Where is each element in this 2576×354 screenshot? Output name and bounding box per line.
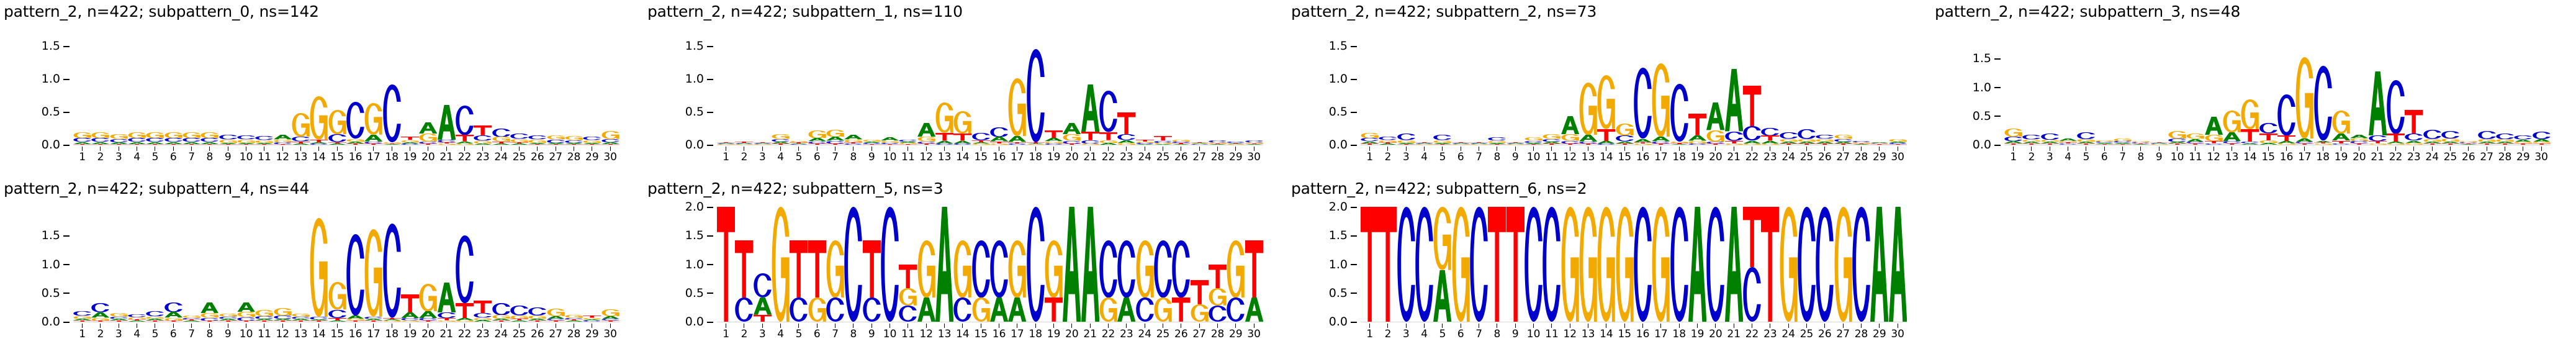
logo-letter-T — [1743, 207, 1761, 267]
logo-letter-T — [2295, 143, 2313, 145]
x-axis-tick: 1 — [73, 147, 91, 175]
y-axis-tick: 0.0 — [685, 138, 713, 152]
axis-baseline — [717, 322, 1263, 322]
logo-stack — [383, 30, 401, 145]
logo-stack — [881, 207, 899, 322]
logo-letter-G — [808, 297, 826, 322]
x-axis-tick: 10 — [2168, 147, 2186, 175]
x-axis-tick-label: 6 — [2101, 152, 2108, 163]
x-axis-tick-mark — [962, 324, 963, 328]
x-axis-tick-mark — [1254, 324, 1254, 328]
logo-panel-5: pattern_2, n=422; subpattern_5, ns=30.00… — [644, 177, 1287, 354]
panel-title: pattern_2, n=422; subpattern_5, ns=3 — [647, 179, 943, 197]
x-axis-tick-mark — [318, 147, 319, 151]
logo-letter-C — [164, 302, 182, 312]
x-axis-tick-label: 12 — [1563, 152, 1577, 163]
x-axis-tick: 29 — [1227, 324, 1245, 352]
logo-letter-G — [1117, 143, 1135, 145]
x-axis-tick: 14 — [1597, 324, 1615, 352]
y-axis-tick: 0.0 — [1329, 138, 1357, 152]
x-axis-tick: 17 — [1008, 324, 1026, 352]
logo-letter-T — [292, 320, 310, 322]
logo-letter-T — [364, 320, 382, 322]
x-axis-tick-mark — [2432, 147, 2433, 151]
logo-letter-G — [1470, 144, 1488, 145]
x-axis-tick-label: 1 — [723, 329, 729, 340]
logo-letter-A — [328, 143, 346, 145]
x-axis-tick-mark — [853, 147, 853, 151]
logo-stack — [255, 207, 273, 322]
logo-letter-C — [1706, 207, 1724, 322]
x-axis-tick-label: 2 — [97, 329, 104, 340]
y-axis-tick-mark — [63, 322, 70, 323]
logo-stack — [255, 30, 273, 145]
logo-letter-C — [1136, 297, 1154, 322]
logo-letter-A — [2205, 117, 2223, 135]
x-axis-tick-mark — [82, 324, 83, 328]
logo-letter-G — [990, 143, 1008, 145]
x-axis-tick-label: 25 — [1156, 152, 1170, 163]
logo-letter-T — [2223, 143, 2241, 145]
x-axis-tick: 21 — [1725, 147, 1743, 175]
logo-letter-C — [2205, 143, 2223, 145]
x-axis-tick: 5 — [1433, 147, 1451, 175]
x-axis-tick: 4 — [1415, 324, 1433, 352]
x-axis-tick-label: 24 — [1138, 152, 1151, 163]
logo-letter-C — [2059, 143, 2077, 145]
logo-letter-G — [1063, 134, 1081, 141]
x-axis-tick-label: 3 — [2047, 152, 2053, 163]
x-axis-tick-mark — [726, 147, 726, 151]
logo-stack — [1870, 30, 1888, 145]
x-axis-tick: 10 — [1524, 147, 1542, 175]
x-axis-tick-label: 4 — [133, 152, 140, 163]
logo-stack — [2387, 30, 2405, 145]
x-axis-tick-label: 13 — [294, 152, 308, 163]
logo-panel-2: pattern_2, n=422; subpattern_2, ns=730.0… — [1287, 0, 1931, 177]
x-axis-tick: 1 — [717, 324, 735, 352]
logo-panel-6: pattern_2, n=422; subpattern_6, ns=20.00… — [1287, 177, 1931, 354]
logo-letter-T — [2478, 143, 2496, 145]
logo-letter-C — [1099, 240, 1117, 298]
logo-letter-G — [438, 143, 456, 145]
logo-stack — [2132, 30, 2150, 145]
logo-letter-C — [1397, 134, 1415, 140]
x-axis-tick-mark — [1163, 147, 1163, 151]
x-axis-tick-mark — [1660, 147, 1661, 151]
x-axis-tick-mark — [2013, 147, 2014, 151]
logo-letter-T — [2022, 143, 2040, 145]
logo-stack — [826, 207, 844, 322]
x-axis-tick: 10 — [237, 147, 255, 175]
x-axis-tick-label: 22 — [1745, 329, 1759, 340]
logo-letter-G — [1542, 134, 1560, 138]
x-axis-tick: 8 — [1488, 324, 1506, 352]
x-axis-tick-mark — [780, 324, 781, 328]
logo-stack — [547, 30, 565, 145]
logo-letter-T — [881, 144, 899, 145]
x-axis-tick-mark — [1588, 147, 1588, 151]
logo-letter-G — [401, 320, 419, 322]
x-axis-tick-label: 4 — [133, 329, 140, 340]
x-axis-tick-label: 8 — [850, 152, 857, 163]
logo-stack — [328, 207, 346, 322]
x-axis-tick-mark — [1442, 147, 1443, 151]
logo-letter-T — [128, 144, 146, 145]
x-axis-tick-label: 16 — [1636, 329, 1650, 340]
logo-letter-T — [2114, 144, 2132, 145]
logo-letter-A — [990, 297, 1008, 322]
logo-stack — [1081, 207, 1099, 322]
x-axis-tick: 3 — [110, 324, 128, 352]
x-axis-tick: 8 — [200, 147, 218, 175]
x-axis-tick: 29 — [2514, 147, 2532, 175]
x-axis-tick: 16 — [346, 324, 364, 352]
x-axis-tick-label: 5 — [2083, 152, 2090, 163]
logo-letter-T — [1706, 143, 1724, 145]
y-axis: 0.00.51.01.5 — [0, 207, 73, 322]
x-axis-tick-mark — [1679, 147, 1680, 151]
x-axis-tick: 15 — [2259, 147, 2277, 175]
logo-letter-A — [274, 135, 292, 139]
logo-panel-1: pattern_2, n=422; subpattern_1, ns=1100.… — [644, 0, 1287, 177]
x-axis-tick-mark — [246, 324, 246, 328]
x-axis-tick-label: 7 — [188, 152, 195, 163]
logo-letter-A — [1008, 297, 1026, 322]
x-axis-tick: 9 — [1506, 147, 1524, 175]
logo-stack — [1008, 30, 1026, 145]
logo-stack — [2150, 30, 2168, 145]
logo-stack — [1470, 207, 1488, 322]
x-axis-tick: 21 — [1081, 324, 1099, 352]
logo-stack — [110, 207, 128, 322]
logo-letter-G — [1652, 63, 1670, 137]
x-axis-tick-mark — [1071, 324, 1072, 328]
x-axis-tick-label: 17 — [1011, 152, 1024, 163]
logo-letter-T — [1542, 143, 1560, 145]
logo-letter-A — [419, 122, 437, 134]
logo-stack — [528, 30, 546, 145]
logo-letter-G — [146, 132, 164, 138]
x-axis-tick: 11 — [899, 147, 917, 175]
x-axis-tick: 26 — [1816, 147, 1834, 175]
x-axis-tick-label: 30 — [1247, 329, 1261, 340]
logo-letter-G — [91, 132, 109, 138]
logo-stack — [438, 207, 456, 322]
logo-letter-C — [1027, 207, 1045, 322]
x-axis-tick-label: 11 — [901, 152, 915, 163]
logo-stack — [565, 207, 583, 322]
logo-letter-A — [1870, 207, 1888, 322]
y-axis-tick-label: 1.0 — [1973, 81, 1991, 94]
x-axis-tick: 7 — [826, 147, 844, 175]
logo-letter-C — [1725, 132, 1743, 141]
logo-stacks — [717, 207, 1263, 322]
x-axis-tick-mark — [1108, 147, 1109, 151]
x-axis-tick: 3 — [110, 147, 128, 175]
x-axis-tick: 15 — [328, 324, 346, 352]
logo-letter-A — [237, 302, 255, 312]
logo-letter-T — [2423, 143, 2441, 145]
x-axis-tick-label: 2 — [1385, 152, 1392, 163]
logo-stack — [91, 30, 109, 145]
x-axis-tick: 23 — [1761, 324, 1779, 352]
logo-letter-T — [2004, 143, 2022, 145]
x-axis-tick-label: 25 — [1156, 329, 1170, 340]
x-axis-tick-label: 10 — [883, 329, 897, 340]
x-axis: 1234567891011121314151617181920212223242… — [1361, 324, 1907, 352]
logo-stack — [456, 207, 474, 322]
logo-stack — [717, 207, 735, 322]
x-axis-tick: 18 — [1027, 147, 1045, 175]
x-axis-tick-mark — [410, 324, 410, 328]
logo-letter-T — [528, 144, 546, 145]
panel-title: pattern_2, n=422; subpattern_0, ns=142 — [4, 2, 319, 20]
x-axis-tick-label: 29 — [2516, 152, 2530, 163]
logo-letter-C — [2533, 132, 2551, 139]
x-axis-tick-label: 8 — [1494, 329, 1501, 340]
x-axis-tick-mark — [337, 147, 338, 151]
x-axis-tick: 1 — [1361, 324, 1379, 352]
x-axis-tick-mark — [373, 324, 374, 328]
x-axis-tick: 21 — [438, 324, 456, 352]
logo-stack — [2077, 30, 2095, 145]
x-axis-tick: 2 — [735, 147, 753, 175]
x-axis-tick-label: 20 — [1709, 152, 1723, 163]
x-axis-tick: 15 — [972, 147, 990, 175]
logo-stack — [346, 207, 364, 322]
x-axis-tick-mark — [744, 324, 744, 328]
x-axis-tick-mark — [191, 324, 192, 328]
x-axis-tick-mark — [1387, 324, 1388, 328]
x-axis-tick-label: 1 — [79, 329, 86, 340]
logo-stack — [1397, 30, 1415, 145]
x-axis-tick-label: 23 — [1120, 152, 1133, 163]
y-axis-tick: 0.5 — [685, 105, 713, 119]
x-axis-tick-mark — [1879, 324, 1880, 328]
x-axis-tick-mark — [1126, 147, 1127, 151]
x-axis-tick-label: 23 — [1120, 329, 1133, 340]
x-axis-tick-mark — [1387, 147, 1388, 151]
logo-letter-C — [474, 313, 492, 317]
x-axis-tick-label: 18 — [1672, 152, 1686, 163]
logo-stack — [510, 207, 528, 322]
x-axis-tick-mark — [1861, 324, 1862, 328]
x-axis-tick: 26 — [1172, 147, 1190, 175]
x-axis-tick-label: 4 — [777, 152, 784, 163]
x-axis-tick: 19 — [1045, 147, 1063, 175]
sequence-logo-plot — [2004, 30, 2551, 145]
logo-letter-T — [1798, 143, 1816, 145]
logo-stack — [1099, 30, 1117, 145]
x-axis-tick-mark — [537, 147, 538, 151]
x-axis-tick: 18 — [1027, 324, 1045, 352]
logo-letter-G — [2332, 111, 2350, 134]
x-axis-tick-label: 8 — [1494, 152, 1501, 163]
logo-letter-A — [2369, 71, 2387, 136]
x-axis-tick-label: 17 — [367, 329, 381, 340]
logo-letter-C — [456, 106, 474, 135]
x-axis-tick: 20 — [1063, 147, 1081, 175]
y-axis-tick-label: 0.5 — [1329, 105, 1348, 119]
logo-letter-G — [1597, 75, 1615, 129]
x-axis-tick-label: 4 — [1421, 329, 1428, 340]
x-axis-tick: 16 — [1634, 324, 1652, 352]
logo-letter-G — [1652, 207, 1670, 322]
x-axis-tick-label: 27 — [1192, 329, 1206, 340]
logo-letter-G — [492, 137, 510, 141]
x-axis-tick-mark — [726, 324, 726, 328]
logo-stacks — [73, 207, 619, 322]
logo-stack — [1227, 207, 1245, 322]
x-axis-tick-label: 19 — [1047, 152, 1061, 163]
x-axis-tick: 19 — [401, 147, 419, 175]
logo-letter-G — [1191, 304, 1209, 322]
y-axis-tick-label: 1.0 — [685, 258, 704, 271]
x-axis-tick-label: 9 — [225, 152, 232, 163]
logo-letter-G — [826, 240, 844, 298]
logo-stack — [2114, 30, 2132, 145]
logo-stack — [808, 207, 826, 322]
x-axis-tick-mark — [282, 147, 283, 151]
x-axis-tick: 2 — [735, 324, 753, 352]
x-axis-tick-label: 23 — [476, 329, 490, 340]
x-axis-tick-label: 2 — [2029, 152, 2035, 163]
y-axis-tick-mark — [707, 207, 713, 208]
logo-stack — [1852, 30, 1870, 145]
x-axis-tick: 27 — [547, 324, 565, 352]
logo-letter-T — [601, 144, 619, 145]
logo-letter-A — [1706, 102, 1724, 130]
x-axis-tick: 18 — [1670, 324, 1688, 352]
x-axis-tick: 1 — [717, 147, 735, 175]
x-axis-tick-label: 12 — [276, 329, 289, 340]
x-axis-tick-label: 25 — [2444, 152, 2457, 163]
logo-letter-A — [1852, 144, 1870, 145]
y-axis-tick-label: 2.0 — [685, 200, 704, 214]
logo-letter-C — [383, 84, 401, 142]
x-axis-tick: 3 — [754, 147, 772, 175]
x-axis-tick-label: 23 — [476, 152, 490, 163]
logo-stack — [73, 207, 91, 322]
x-axis-tick-mark — [2213, 147, 2214, 151]
x-axis-tick-mark — [300, 147, 301, 151]
logo-letter-A — [1209, 144, 1227, 145]
x-axis-tick: 18 — [1670, 147, 1688, 175]
x-axis-tick-mark — [209, 147, 210, 151]
logo-letter-T — [237, 144, 255, 145]
logo-letter-G — [310, 96, 328, 140]
logo-stack — [1117, 30, 1135, 145]
logo-stack — [1670, 30, 1688, 145]
logo-stack — [2168, 30, 2186, 145]
logo-stack — [1488, 207, 1506, 322]
y-axis-tick-mark — [1351, 207, 1357, 208]
logo-stack — [735, 207, 753, 322]
x-axis-tick: 24 — [1780, 147, 1798, 175]
x-axis-tick: 28 — [1852, 147, 1870, 175]
logo-letter-G — [419, 284, 437, 311]
x-axis-tick-label: 4 — [1421, 152, 1428, 163]
logo-letter-C — [1117, 240, 1135, 298]
x-axis-tick: 26 — [2459, 147, 2477, 175]
logo-letter-A — [419, 311, 437, 318]
logo-stack — [790, 30, 808, 145]
x-axis-tick-mark — [446, 147, 447, 151]
x-axis-tick: 20 — [419, 147, 437, 175]
x-axis-tick-label: 17 — [367, 152, 381, 163]
logo-letter-A — [1081, 207, 1099, 322]
logo-letter-C — [1798, 129, 1816, 139]
x-axis-tick: 6 — [808, 324, 826, 352]
x-axis-tick-mark — [1017, 147, 1017, 151]
logo-letter-T — [255, 320, 273, 322]
x-axis-tick: 21 — [2369, 147, 2387, 175]
y-axis-tick-label: 1.0 — [42, 72, 60, 86]
logo-stack — [274, 207, 292, 322]
x-axis-tick-mark — [1715, 324, 1716, 328]
logo-letter-C — [2277, 94, 2295, 136]
x-axis-tick: 25 — [510, 324, 528, 352]
logo-stack — [364, 207, 382, 322]
x-axis-tick-label: 20 — [1709, 329, 1723, 340]
logo-stack — [1652, 207, 1670, 322]
logo-letter-T — [2186, 143, 2204, 145]
x-axis-tick-mark — [2323, 147, 2323, 151]
x-axis-tick: 21 — [1725, 324, 1743, 352]
x-axis-tick-mark — [1145, 324, 1145, 328]
logo-stack — [1688, 207, 1706, 322]
logo-letter-G — [2004, 129, 2022, 137]
x-axis-tick-label: 9 — [1512, 152, 1519, 163]
logo-letter-C — [2441, 131, 2459, 138]
logo-stack — [1361, 30, 1379, 145]
logo-stack — [528, 207, 546, 322]
logo-stack — [990, 30, 1008, 145]
x-axis-tick-mark — [798, 324, 799, 328]
logo-letter-G — [547, 309, 565, 316]
logo-letter-G — [2205, 135, 2223, 141]
x-axis-tick-label: 2 — [741, 329, 748, 340]
panel-title: pattern_2, n=422; subpattern_1, ns=110 — [647, 2, 963, 20]
x-axis-tick: 29 — [1870, 147, 1888, 175]
axis-baseline — [73, 145, 619, 145]
y-axis: 0.00.51.01.5 — [1287, 30, 1361, 145]
logo-letter-G — [1209, 288, 1227, 306]
x-axis-tick: 12 — [1561, 324, 1579, 352]
x-axis-tick-mark — [264, 324, 264, 328]
x-axis-tick-label: 17 — [1654, 329, 1668, 340]
logo-letter-T — [1154, 136, 1172, 140]
logo-stack — [826, 30, 844, 145]
x-axis-tick: 28 — [565, 147, 583, 175]
logo-letter-T — [2077, 143, 2095, 145]
x-axis-tick: 25 — [1154, 147, 1172, 175]
x-axis-tick: 23 — [1117, 324, 1135, 352]
x-axis-tick-mark — [1235, 147, 1236, 151]
logo-stack — [2369, 30, 2387, 145]
x-axis-tick: 22 — [1743, 147, 1761, 175]
logo-letter-T — [1761, 135, 1779, 140]
logo-letter-A — [1889, 207, 1907, 322]
logo-stack — [1117, 207, 1135, 322]
x-axis-tick: 28 — [2496, 147, 2514, 175]
logo-letter-G — [2186, 134, 2204, 138]
x-axis-tick-mark — [2177, 147, 2177, 151]
logo-stack — [274, 30, 292, 145]
logo-letter-T — [2041, 143, 2059, 145]
x-axis-tick-mark — [1369, 147, 1370, 151]
